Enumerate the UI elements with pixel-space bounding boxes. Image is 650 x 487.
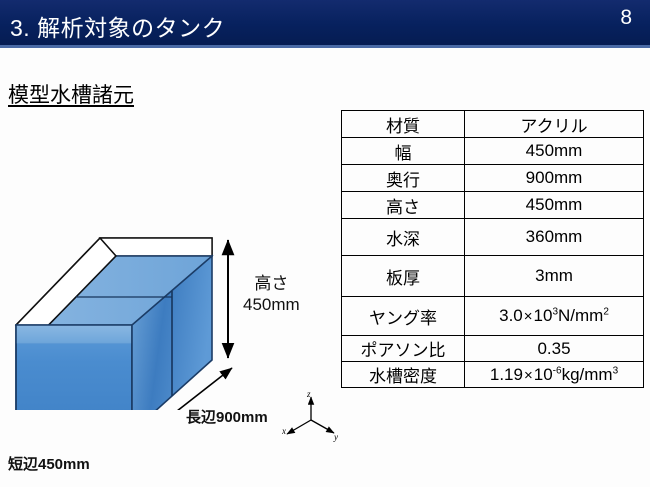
young-base: 10 <box>534 306 553 325</box>
spec-value: 450mm <box>465 138 644 165</box>
table-row: 板厚 3mm <box>342 256 644 297</box>
table-row: 水深 360mm <box>342 219 644 256</box>
table-row: ヤング率 3.0×103N/mm2 <box>342 297 644 336</box>
density-mantissa: 1.19 <box>490 365 523 384</box>
young-unit: N/mm <box>558 306 603 325</box>
tank-figure: 高さ 450mm 長辺900mm 短辺450mm z y x 二槽式矩形模型水槽 <box>0 110 340 410</box>
spec-key: 高さ <box>342 192 465 219</box>
table-row: 材質 アクリル <box>342 111 644 138</box>
spec-value: 3.0×103N/mm2 <box>465 297 644 336</box>
axis-z-label: z <box>306 390 311 399</box>
axis-triad: z y x <box>282 390 340 447</box>
spec-value: 3mm <box>465 256 644 297</box>
young-unit-exponent: 2 <box>603 306 609 317</box>
axis-y-label: y <box>333 432 338 442</box>
tank-diagram-svg <box>0 110 340 410</box>
long-side-dimension-label: 長辺900mm <box>186 406 268 427</box>
density-exponent: -6 <box>553 365 562 376</box>
short-side-dimension-label: 短辺450mm <box>8 453 90 474</box>
height-dimension-label-line2: 450mm <box>243 294 300 315</box>
spec-value: 0.35 <box>465 336 644 362</box>
spec-value: アクリル <box>465 111 644 138</box>
page-number: 8 <box>620 6 632 30</box>
height-dimension-label: 高さ 450mm <box>243 273 300 315</box>
spec-table-wrap: 材質 アクリル 幅 450mm 奥行 900mm 高さ 450mm 水深 3 <box>341 110 641 388</box>
section-heading: 模型水槽諸元 <box>8 79 134 109</box>
spec-value: 900mm <box>465 165 644 192</box>
density-base: 10 <box>534 365 553 384</box>
young-times: × <box>523 308 534 325</box>
axis-triad-svg: z y x <box>282 390 340 442</box>
axis-x-label: x <box>282 426 286 436</box>
spec-table-body: 材質 アクリル 幅 450mm 奥行 900mm 高さ 450mm 水深 3 <box>342 111 644 388</box>
spec-key: 板厚 <box>342 256 465 297</box>
density-times: × <box>523 367 534 384</box>
table-row: 幅 450mm <box>342 138 644 165</box>
spec-key: ポアソン比 <box>342 336 465 362</box>
title-bar-underline <box>0 45 650 48</box>
spec-key: 水槽密度 <box>342 362 465 388</box>
spec-key: 奥行 <box>342 165 465 192</box>
spec-value: 450mm <box>465 192 644 219</box>
table-row: 水槽密度 1.19×10-6kg/mm3 <box>342 362 644 388</box>
axis-y-line <box>311 420 334 433</box>
axis-x-line <box>287 420 311 434</box>
density-unit: kg/mm <box>562 365 613 384</box>
table-row: ポアソン比 0.35 <box>342 336 644 362</box>
spec-value: 360mm <box>465 219 644 256</box>
table-row: 高さ 450mm <box>342 192 644 219</box>
tank-front-highlight-band <box>16 325 132 343</box>
spec-table: 材質 アクリル 幅 450mm 奥行 900mm 高さ 450mm 水深 3 <box>341 110 644 388</box>
height-dimension-label-line1: 高さ <box>243 273 300 294</box>
table-row: 奥行 900mm <box>342 165 644 192</box>
spec-key: ヤング率 <box>342 297 465 336</box>
spec-key: 材質 <box>342 111 465 138</box>
spec-key: 幅 <box>342 138 465 165</box>
young-mantissa: 3.0 <box>499 306 523 325</box>
density-unit-exponent: 3 <box>613 365 619 376</box>
spec-value: 1.19×10-6kg/mm3 <box>465 362 644 388</box>
page-title: 3. 解析対象のタンク <box>10 9 225 43</box>
slide: 3. 解析対象のタンク 8 模型水槽諸元 <box>0 0 650 487</box>
spec-key: 水深 <box>342 219 465 256</box>
